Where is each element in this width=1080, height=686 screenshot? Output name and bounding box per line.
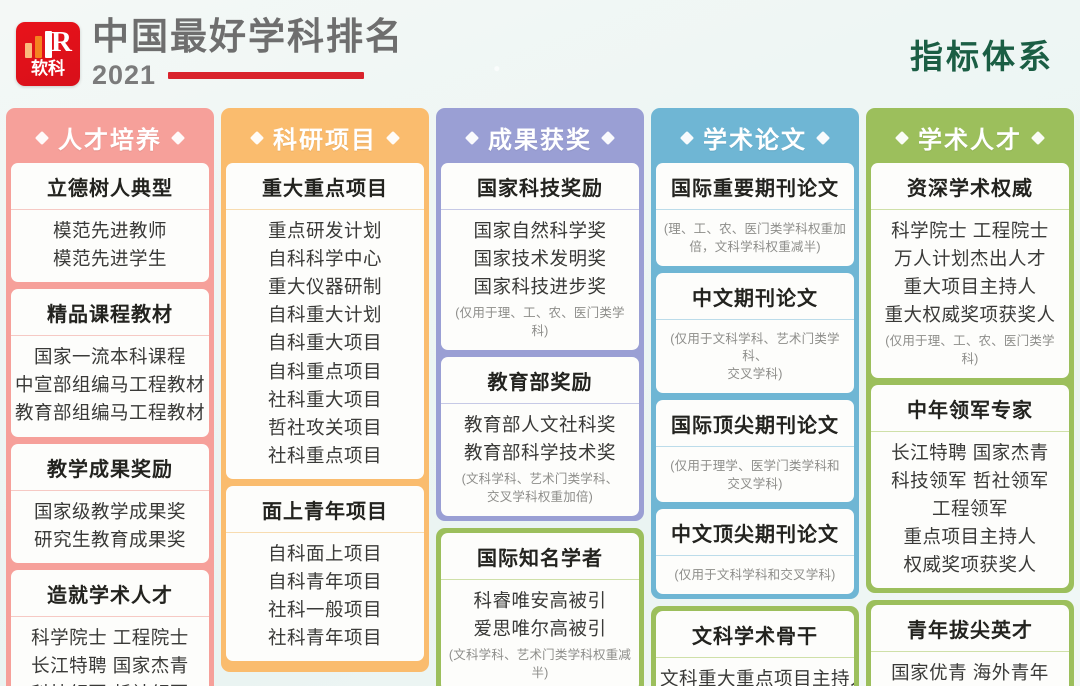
indicator-card-title: 面上青年项目 xyxy=(226,486,424,533)
indicator-note: (仅用于文科学科和交叉学科) xyxy=(660,567,850,585)
indicator-note: (文科学科、艺术门类学科、交叉学科权重加倍) xyxy=(445,471,635,507)
shanghairanking-logo-icon: R 软科 xyxy=(16,22,80,86)
title-underline-rule xyxy=(168,72,364,79)
indicator-card-body: (仅用于文科学科和交叉学科) xyxy=(656,556,854,594)
indicator-card-body: 文科重大重点项目主持人文科权威奖项获奖人(仅用于文科学科和交叉学科) xyxy=(656,658,854,686)
indicator-panel-scholars: 国际知名学者科睿唯安高被引爱思唯尔高被引(文科学科、艺术门类学科权重减半) xyxy=(436,528,644,686)
indicator-item: 重大仪器研制 xyxy=(230,273,420,301)
indicator-card-body: 模范先进教师模范先进学生 xyxy=(11,210,209,282)
indicator-card: 教学成果奖励国家级教学成果奖研究生教育成果奖 xyxy=(11,444,209,563)
indicator-item: 国家级教学成果奖 xyxy=(15,498,205,526)
indicator-card-body: (仅用于文科学科、艺术门类学科、交叉学科) xyxy=(656,320,854,393)
indicator-card-body: 国家优青 海外青年青年拔尖 青年长江青年权威奖项获奖人 xyxy=(871,652,1069,686)
indicator-item: 中宣部组编马工程教材 xyxy=(15,371,205,399)
indicator-column-talent: 人才培养立德树人典型模范先进教师模范先进学生精品课程教材国家一流本科课程中宣部组… xyxy=(6,108,214,678)
logo-letter: R xyxy=(51,28,72,57)
diamond-icon xyxy=(895,130,909,144)
indicator-item: 科技领军 哲社领军 xyxy=(875,467,1065,495)
indicator-note: (仅用于理学、医学门类学科和交叉学科) xyxy=(660,458,850,494)
indicator-column-award: 成果获奖国家科技奖励国家自然科学奖国家技术发明奖国家科技进步奖(仅用于理、工、农… xyxy=(436,108,644,678)
section-title: 指标体系 xyxy=(910,30,1054,78)
indicator-card: 中文顶尖期刊论文(仅用于文科学科和交叉学科) xyxy=(656,509,854,594)
indicator-card: 资深学术权威科学院士 工程院士万人计划杰出人才重大项目主持人重大权威奖项获奖人(… xyxy=(871,163,1069,378)
indicator-card-title: 立德树人典型 xyxy=(11,163,209,210)
indicator-card: 立德树人典型模范先进教师模范先进学生 xyxy=(11,163,209,282)
indicator-card-body: 国家级教学成果奖研究生教育成果奖 xyxy=(11,491,209,563)
diamond-icon xyxy=(680,130,694,144)
indicator-item: 科睿唯安高被引 xyxy=(445,587,635,615)
indicator-card: 青年拔尖英才国家优青 海外青年青年拔尖 青年长江青年权威奖项获奖人 xyxy=(871,605,1069,686)
indicator-panel-liberal: 文科学术骨干文科重大重点项目主持人文科权威奖项获奖人(仅用于文科学科和交叉学科) xyxy=(651,606,859,686)
indicator-item: 重点项目主持人 xyxy=(875,523,1065,551)
indicator-card: 重大重点项目重点研发计划自科科学中心重大仪器研制自科重大计划自科重大项目自科重点… xyxy=(226,163,424,479)
indicator-item: 科学院士 工程院士 xyxy=(875,217,1065,245)
indicator-item: 自科科学中心 xyxy=(230,245,420,273)
indicator-card-title: 教学成果奖励 xyxy=(11,444,209,491)
panel-header-talent: 人才培养 xyxy=(11,113,209,163)
indicator-card-body: 教育部人文社科奖教育部科学技术奖(文科学科、艺术门类学科、交叉学科权重加倍) xyxy=(441,404,639,516)
page-title: 中国最好学科排名 xyxy=(92,17,404,57)
indicator-item: 长江特聘 国家杰青 xyxy=(875,439,1065,467)
indicator-card-title: 文科学术骨干 xyxy=(656,611,854,658)
indicator-card-body: 科睿唯安高被引爱思唯尔高被引(文科学科、艺术门类学科权重减半) xyxy=(441,580,639,686)
indicator-item: 权威奖项获奖人 xyxy=(875,551,1065,579)
indicator-card-body: 自科面上项目自科青年项目社科一般项目社科青年项目 xyxy=(226,533,424,661)
indicator-item: 国家技术发明奖 xyxy=(445,245,635,273)
indicator-card-body: 国家一流本科课程中宣部组编马工程教材教育部组编马工程教材 xyxy=(11,336,209,436)
indicator-column-people: 学术人才资深学术权威科学院士 工程院士万人计划杰出人才重大项目主持人重大权威奖项… xyxy=(866,108,1074,678)
diamond-icon xyxy=(35,130,49,144)
indicator-card-body: 科学院士 工程院士长江特聘 国家杰青科技领军 哲社领军工程领军 xyxy=(11,617,209,686)
indicator-card: 国际顶尖期刊论文(仅用于理学、医学门类学科和交叉学科) xyxy=(656,400,854,503)
indicator-panel-talent: 人才培养立德树人典型模范先进教师模范先进学生精品课程教材国家一流本科课程中宣部组… xyxy=(6,108,214,686)
indicator-panel-people: 学术人才资深学术权威科学院士 工程院士万人计划杰出人才重大项目主持人重大权威奖项… xyxy=(866,108,1074,593)
indicator-item: 自科重大项目 xyxy=(230,329,420,357)
indicator-item: 社科重大项目 xyxy=(230,386,420,414)
indicator-item: 教育部组编马工程教材 xyxy=(15,399,205,427)
indicator-card-title: 青年拔尖英才 xyxy=(871,605,1069,652)
indicator-item: 研究生教育成果奖 xyxy=(15,526,205,554)
indicator-card: 国家科技奖励国家自然科学奖国家技术发明奖国家科技进步奖(仅用于理、工、农、医门类… xyxy=(441,163,639,350)
panel-header-label: 人才培养 xyxy=(58,120,162,155)
indicator-item: 模范先进学生 xyxy=(15,245,205,273)
indicator-item: 社科重点项目 xyxy=(230,442,420,470)
indicator-item: 自科面上项目 xyxy=(230,540,420,568)
indicator-card-body: 国家自然科学奖国家技术发明奖国家科技进步奖(仅用于理、工、农、医门类学科) xyxy=(441,210,639,350)
panel-header-label: 学术论文 xyxy=(703,120,807,155)
indicator-item: 教育部人文社科奖 xyxy=(445,411,635,439)
indicator-card-title: 重大重点项目 xyxy=(226,163,424,210)
indicator-item: 国家一流本科课程 xyxy=(15,343,205,371)
infographic-page: R 软科 中国最好学科排名 2021 指标体系 人才培养立德树人典型模范先进教师… xyxy=(0,0,1080,686)
indicator-column-project: 科研项目重大重点项目重点研发计划自科科学中心重大仪器研制自科重大计划自科重大项目… xyxy=(221,108,429,678)
indicator-panel-award: 成果获奖国家科技奖励国家自然科学奖国家技术发明奖国家科技进步奖(仅用于理、工、农… xyxy=(436,108,644,521)
indicator-item: 工程领军 xyxy=(875,495,1065,523)
indicator-note: (文科学科、艺术门类学科权重减半) xyxy=(445,647,635,683)
indicator-note: (仅用于理、工、农、医门类学科) xyxy=(875,333,1065,369)
panel-header-project: 科研项目 xyxy=(226,113,424,163)
subtitle-row: 2021 xyxy=(92,60,404,91)
indicator-panel-youth: 青年拔尖英才国家优青 海外青年青年拔尖 青年长江青年权威奖项获奖人 xyxy=(866,600,1074,686)
indicator-card-title: 国际知名学者 xyxy=(441,533,639,580)
column-container: 人才培养立德树人典型模范先进教师模范先进学生精品课程教材国家一流本科课程中宣部组… xyxy=(6,108,1074,678)
logo-name: 软科 xyxy=(16,54,80,79)
panel-header-people: 学术人才 xyxy=(871,113,1069,163)
diamond-icon xyxy=(250,130,264,144)
diamond-icon xyxy=(386,130,400,144)
indicator-card: 面上青年项目自科面上项目自科青年项目社科一般项目社科青年项目 xyxy=(226,486,424,661)
indicator-item: 重点研发计划 xyxy=(230,217,420,245)
indicator-item: 模范先进教师 xyxy=(15,217,205,245)
indicator-item: 社科青年项目 xyxy=(230,624,420,652)
indicator-item: 文科重大重点项目主持人 xyxy=(660,665,850,686)
indicator-panel-paper: 学术论文国际重要期刊论文(理、工、农、医门类学科权重加倍，文科学科权重减半)中文… xyxy=(651,108,859,599)
panel-header-paper: 学术论文 xyxy=(656,113,854,163)
diamond-icon xyxy=(1031,130,1045,144)
indicator-item: 科学院士 工程院士 xyxy=(15,624,205,652)
panel-header-label: 学术人才 xyxy=(918,120,1022,155)
diamond-icon xyxy=(465,130,479,144)
indicator-card-title: 造就学术人才 xyxy=(11,570,209,617)
indicator-card: 精品课程教材国家一流本科课程中宣部组编马工程教材教育部组编马工程教材 xyxy=(11,289,209,436)
indicator-card: 国际知名学者科睿唯安高被引爱思唯尔高被引(文科学科、艺术门类学科权重减半) xyxy=(441,533,639,686)
indicator-card: 造就学术人才科学院士 工程院士长江特聘 国家杰青科技领军 哲社领军工程领军 xyxy=(11,570,209,686)
indicator-item: 社科一般项目 xyxy=(230,596,420,624)
indicator-card-title: 中文期刊论文 xyxy=(656,273,854,320)
diamond-icon xyxy=(171,130,185,144)
indicator-card-title: 国际顶尖期刊论文 xyxy=(656,400,854,447)
page-header: R 软科 中国最好学科排名 2021 指标体系 xyxy=(0,0,1080,108)
indicator-card-title: 中年领军专家 xyxy=(871,385,1069,432)
indicator-card: 中年领军专家长江特聘 国家杰青科技领军 哲社领军工程领军重点项目主持人权威奖项获… xyxy=(871,385,1069,589)
indicator-card-title: 资深学术权威 xyxy=(871,163,1069,210)
edition-year: 2021 xyxy=(92,60,156,91)
indicator-item: 万人计划杰出人才 xyxy=(875,245,1065,273)
diamond-icon xyxy=(816,130,830,144)
indicator-card: 国际重要期刊论文(理、工、农、医门类学科权重加倍，文科学科权重减半) xyxy=(656,163,854,266)
indicator-item: 长江特聘 国家杰青 xyxy=(15,652,205,680)
indicator-card-body: (理、工、农、医门类学科权重加倍，文科学科权重减半) xyxy=(656,210,854,266)
panel-header-label: 成果获奖 xyxy=(488,120,592,155)
indicator-card-title: 国际重要期刊论文 xyxy=(656,163,854,210)
indicator-item: 自科重点项目 xyxy=(230,358,420,386)
indicator-note: (理、工、农、医门类学科权重加倍，文科学科权重减半) xyxy=(660,221,850,257)
indicator-note: (仅用于理、工、农、医门类学科) xyxy=(445,305,635,341)
brand-block: R 软科 中国最好学科排名 2021 xyxy=(16,17,404,91)
indicator-card-body: 科学院士 工程院士万人计划杰出人才重大项目主持人重大权威奖项获奖人(仅用于理、工… xyxy=(871,210,1069,378)
indicator-card-title: 精品课程教材 xyxy=(11,289,209,336)
indicator-card-body: (仅用于理学、医学门类学科和交叉学科) xyxy=(656,447,854,503)
indicator-item: 自科青年项目 xyxy=(230,568,420,596)
indicator-item: 自科重大计划 xyxy=(230,301,420,329)
indicator-item: 国家优青 海外青年 xyxy=(875,659,1065,686)
indicator-item: 国家科技进步奖 xyxy=(445,273,635,301)
title-block: 中国最好学科排名 2021 xyxy=(92,17,404,91)
indicator-item: 重大项目主持人 xyxy=(875,273,1065,301)
indicator-card-body: 重点研发计划自科科学中心重大仪器研制自科重大计划自科重大项目自科重点项目社科重大… xyxy=(226,210,424,479)
indicator-column-paper: 学术论文国际重要期刊论文(理、工、农、医门类学科权重加倍，文科学科权重减半)中文… xyxy=(651,108,859,678)
indicator-card-title: 国家科技奖励 xyxy=(441,163,639,210)
panel-header-label: 科研项目 xyxy=(273,120,377,155)
diamond-icon xyxy=(601,130,615,144)
panel-header-award: 成果获奖 xyxy=(441,113,639,163)
indicator-card-title: 中文顶尖期刊论文 xyxy=(656,509,854,556)
indicator-card: 文科学术骨干文科重大重点项目主持人文科权威奖项获奖人(仅用于文科学科和交叉学科) xyxy=(656,611,854,686)
indicator-item: 教育部科学技术奖 xyxy=(445,439,635,467)
indicator-panel-project: 科研项目重大重点项目重点研发计划自科科学中心重大仪器研制自科重大计划自科重大项目… xyxy=(221,108,429,672)
indicator-card: 教育部奖励教育部人文社科奖教育部科学技术奖(文科学科、艺术门类学科、交叉学科权重… xyxy=(441,357,639,516)
indicator-card-title: 教育部奖励 xyxy=(441,357,639,404)
indicator-card: 中文期刊论文(仅用于文科学科、艺术门类学科、交叉学科) xyxy=(656,273,854,393)
indicator-item: 科技领军 哲社领军 xyxy=(15,680,205,686)
indicator-item: 重大权威奖项获奖人 xyxy=(875,301,1065,329)
indicator-item: 爱思唯尔高被引 xyxy=(445,615,635,643)
indicator-note: (仅用于文科学科、艺术门类学科、交叉学科) xyxy=(660,331,850,384)
indicator-item: 哲社攻关项目 xyxy=(230,414,420,442)
indicator-board: 人才培养立德树人典型模范先进教师模范先进学生精品课程教材国家一流本科课程中宣部组… xyxy=(0,108,1080,686)
indicator-card-body: 长江特聘 国家杰青科技领军 哲社领军工程领军重点项目主持人权威奖项获奖人 xyxy=(871,432,1069,589)
indicator-item: 国家自然科学奖 xyxy=(445,217,635,245)
